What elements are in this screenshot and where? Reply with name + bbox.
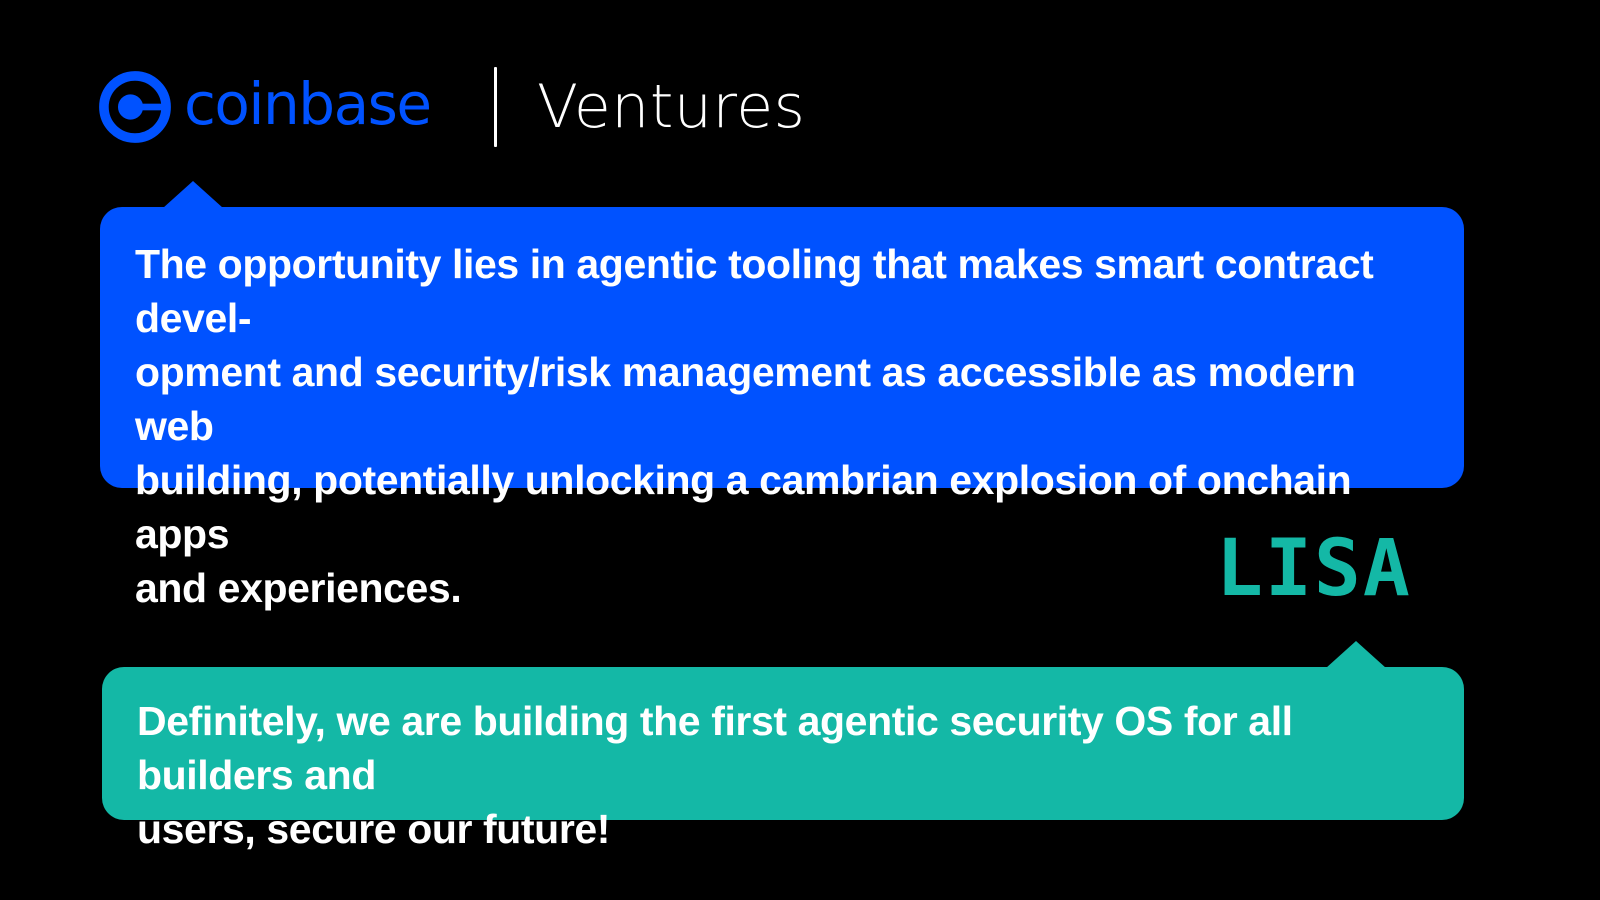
coinbase-ventures-lockup: coinbase Ventures bbox=[98, 62, 805, 152]
svg-text:coinbase: coinbase bbox=[184, 76, 431, 138]
speech-bubble-lisa: Definitely, we are building the first ag… bbox=[102, 667, 1464, 820]
lisa-reply-text: Definitely, we are building the first ag… bbox=[137, 694, 1430, 856]
slide-canvas: coinbase Ventures The opportunity lies i… bbox=[0, 0, 1600, 900]
speech-bubble-tail-up-icon bbox=[1326, 641, 1386, 668]
coinbase-logo-mark bbox=[98, 70, 172, 144]
coinbase-wordmark: coinbase bbox=[184, 76, 452, 138]
ventures-wordmark: Ventures bbox=[537, 77, 805, 137]
speech-bubble-tail-up-icon bbox=[163, 181, 223, 208]
lockup-divider bbox=[494, 67, 497, 147]
speech-bubble-investor: The opportunity lies in agentic tooling … bbox=[100, 207, 1464, 488]
speaker-label-lisa: LISA bbox=[1216, 530, 1412, 608]
